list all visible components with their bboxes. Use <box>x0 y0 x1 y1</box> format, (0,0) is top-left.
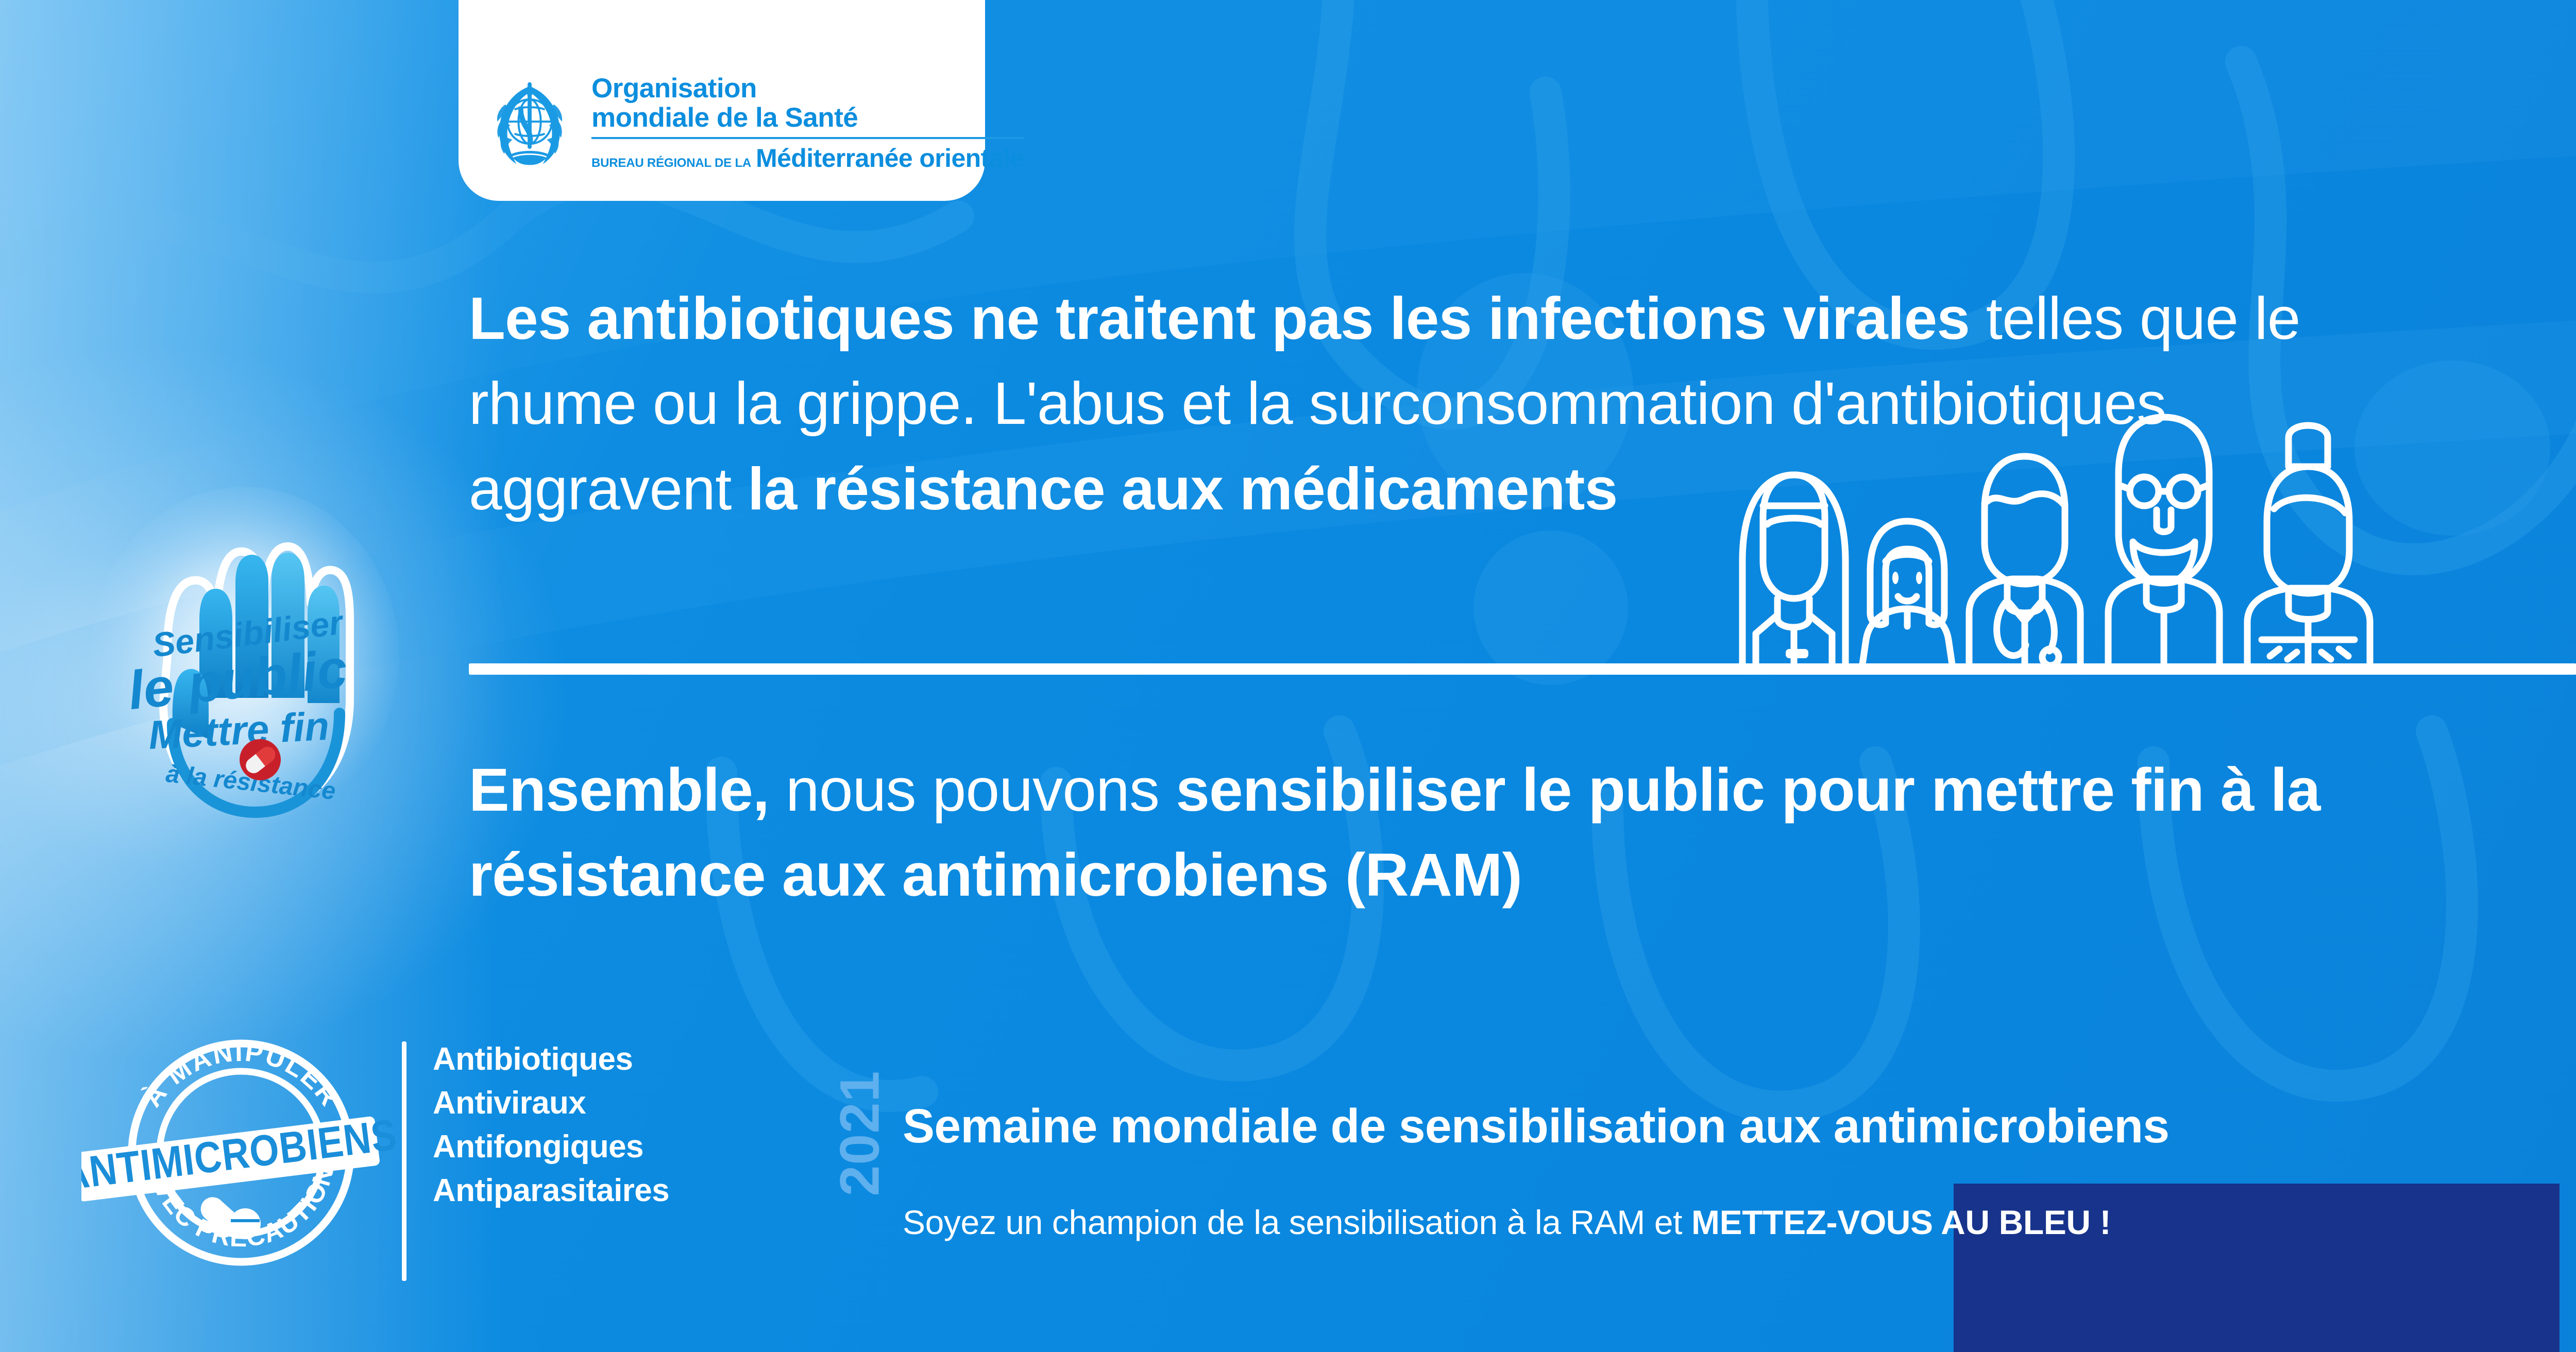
figure-male-doctor <box>1969 456 2080 675</box>
campaign-hand-logo: Sensibiliser le public Mettre fin à la r… <box>85 482 404 842</box>
figure-girl-child <box>1861 521 1954 675</box>
who-logo-divider <box>591 137 1024 139</box>
figure-elderly-man <box>2108 417 2219 675</box>
footer-subtitle: Soyez un champion de la sensibilisation … <box>903 1205 2551 1239</box>
people-illustration <box>1716 407 2576 675</box>
who-logo-line2: mondiale de la Santé <box>591 104 1024 133</box>
secondary-message: Ensemble, nous pouvons sensibiliser le p… <box>469 748 2334 918</box>
message2-regular-1: nous pouvons <box>769 756 1176 824</box>
no-pills-icon <box>240 739 281 780</box>
who-logo-line1: Organisation <box>591 74 1024 104</box>
who-logo-card: Organisation mondiale de la Santé BUREAU… <box>459 0 985 201</box>
footer-subtitle-regular: Soyez un champion de la sensibilisation … <box>903 1203 1691 1241</box>
footer-title: Semaine mondiale de sensibilisation aux … <box>903 1102 2531 1150</box>
figure-woman-headscarf <box>1742 475 1845 675</box>
hand-logo-line3: Mettre fin <box>147 703 330 758</box>
stamp-top-text: À MANIPULER <box>138 1037 345 1113</box>
section-divider-rule <box>469 663 2576 675</box>
headline-bold-1: Les antibiotiques ne traitent pas les in… <box>469 285 1970 352</box>
headline-bold-2: la résistance aux médicaments <box>748 455 1617 522</box>
list-item: Antifongiques <box>433 1131 824 1163</box>
year-label: 2021 <box>827 1051 892 1216</box>
figure-woman-bun <box>2247 425 2370 675</box>
poster-root: Organisation mondiale de la Santé BUREAU… <box>0 0 2576 1352</box>
list-vertical-divider <box>402 1041 406 1281</box>
list-item: Antibiotiques <box>433 1043 824 1075</box>
who-region-name: Méditerranée orientale <box>756 143 1024 173</box>
antimicrobial-list: Antibiotiques Antiviraux Antifongiques A… <box>433 1043 824 1207</box>
who-region-prefix: BUREAU RÉGIONAL DE LA <box>591 156 751 170</box>
stamp-banner-text: ANTIMICROBIENS <box>81 1109 400 1199</box>
who-emblem-icon <box>479 73 580 174</box>
list-item: Antiviraux <box>433 1087 824 1119</box>
message2-bold-1: Ensemble, <box>469 756 769 824</box>
footer-subtitle-highlight: METTEZ-VOUS AU BLEU ! <box>1691 1203 2111 1241</box>
list-item: Antiparasitaires <box>433 1175 824 1207</box>
handle-with-care-stamp: À MANIPULER AVEC PRÉCAUTION ANTIMICROBIE… <box>81 1008 401 1287</box>
